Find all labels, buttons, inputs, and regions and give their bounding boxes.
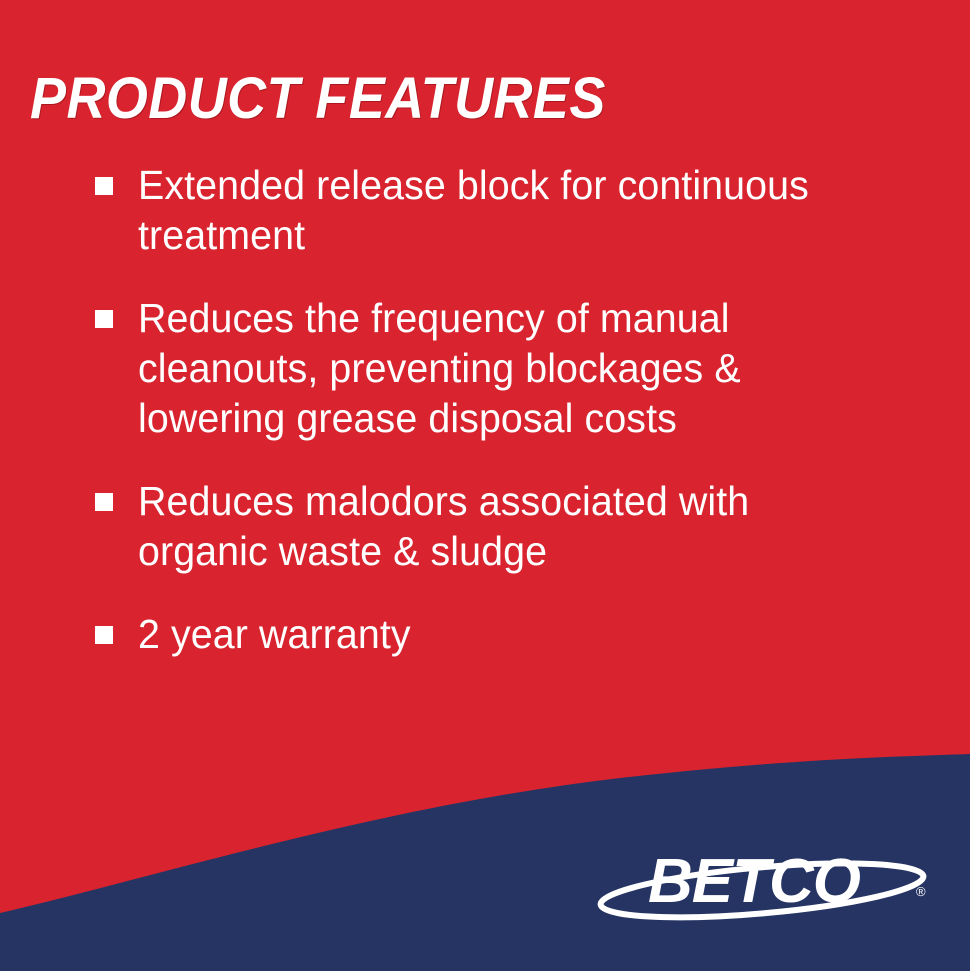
betco-logo: BETCO ® [596,846,936,922]
product-features-slide: PRODUCT FEATURES Extended release block … [0,0,970,971]
feature-text: Reduces malodors associated with organic… [138,476,752,576]
list-item: Reduces malodors associated with organic… [95,476,955,576]
square-bullet-icon [95,493,113,511]
page-title: PRODUCT FEATURES [30,68,606,130]
feature-list: Extended release block for continuous tr… [95,160,955,659]
square-bullet-icon [95,177,113,195]
square-bullet-icon [95,310,113,328]
list-item: 2 year warranty [95,609,955,659]
square-bullet-icon [95,626,113,644]
logo-wordmark: BETCO [648,847,861,916]
feature-text: Extended release block for continuous tr… [138,160,810,260]
feature-text: 2 year warranty [138,609,752,659]
feature-text: Reduces the frequency of manual cleanout… [138,293,896,443]
list-item: Reduces the frequency of manual cleanout… [95,293,955,443]
registered-trademark-icon: ® [916,884,926,899]
list-item: Extended release block for continuous tr… [95,160,955,260]
